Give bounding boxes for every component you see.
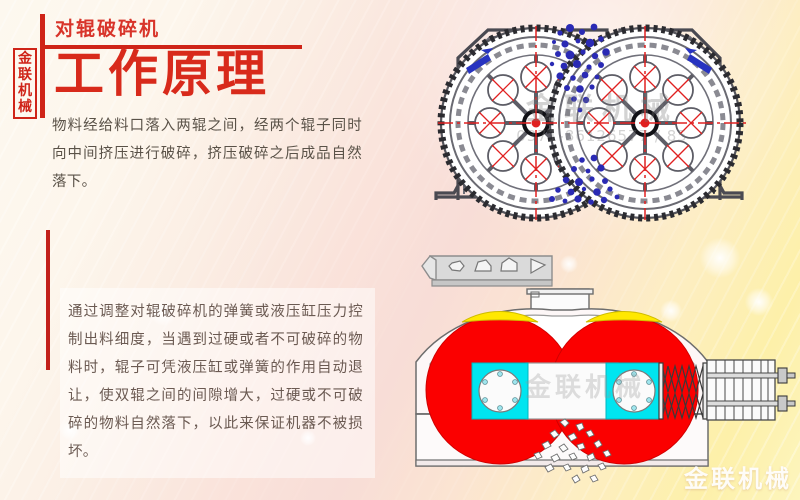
brand-char: 械 <box>15 99 35 115</box>
cross-section-diagram: 金联机械 0371-86126577 / 85 <box>402 8 800 230</box>
tension-frame <box>707 360 795 420</box>
shaft-housing <box>526 363 618 419</box>
paragraph-1: 物料经给料口落入两辊之间，经两个辊子同时向中间挤压进行破碎，挤压破碎之后成品自然… <box>52 112 362 196</box>
brand-char: 金 <box>15 51 35 67</box>
paragraph-2: 通过调整对辊破碎机的弹簧或液压缸压力控制出料细度，当遇到过硬或者不可破碎的物料时… <box>68 298 363 466</box>
cross-section-svg <box>402 8 800 230</box>
description-card-2: 通过调整对辊破碎机的弹簧或液压缸压力控制出料细度，当遇到过硬或者不可破碎的物料时… <box>60 288 375 478</box>
slide-canvas: 对辊破碎机 工作原理 金 联 机 械 物料经给料口落入两辊之间，经两个辊子同时向… <box>0 0 800 500</box>
bearing-right <box>606 363 662 419</box>
description-card-1: 物料经给料口落入两辊之间，经两个辊子同时向中间挤压进行破碎，挤压破碎之后成品自然… <box>52 112 362 196</box>
corner-watermark: 金联机械 <box>684 459 792 494</box>
page-title: 工作原理 <box>54 46 270 102</box>
accent-vertical-bar <box>46 230 50 370</box>
brand-logo-vertical: 金 联 机 械 <box>13 48 37 119</box>
brand-char: 联 <box>15 67 35 83</box>
feed-chute <box>422 256 552 286</box>
header-kicker: 对辊破碎机 <box>55 16 160 42</box>
header-vertical-rule <box>40 14 45 118</box>
slide-header: 对辊破碎机 工作原理 金 联 机 械 <box>0 0 420 120</box>
bearing-left <box>472 363 528 419</box>
brand-char: 机 <box>15 83 35 99</box>
